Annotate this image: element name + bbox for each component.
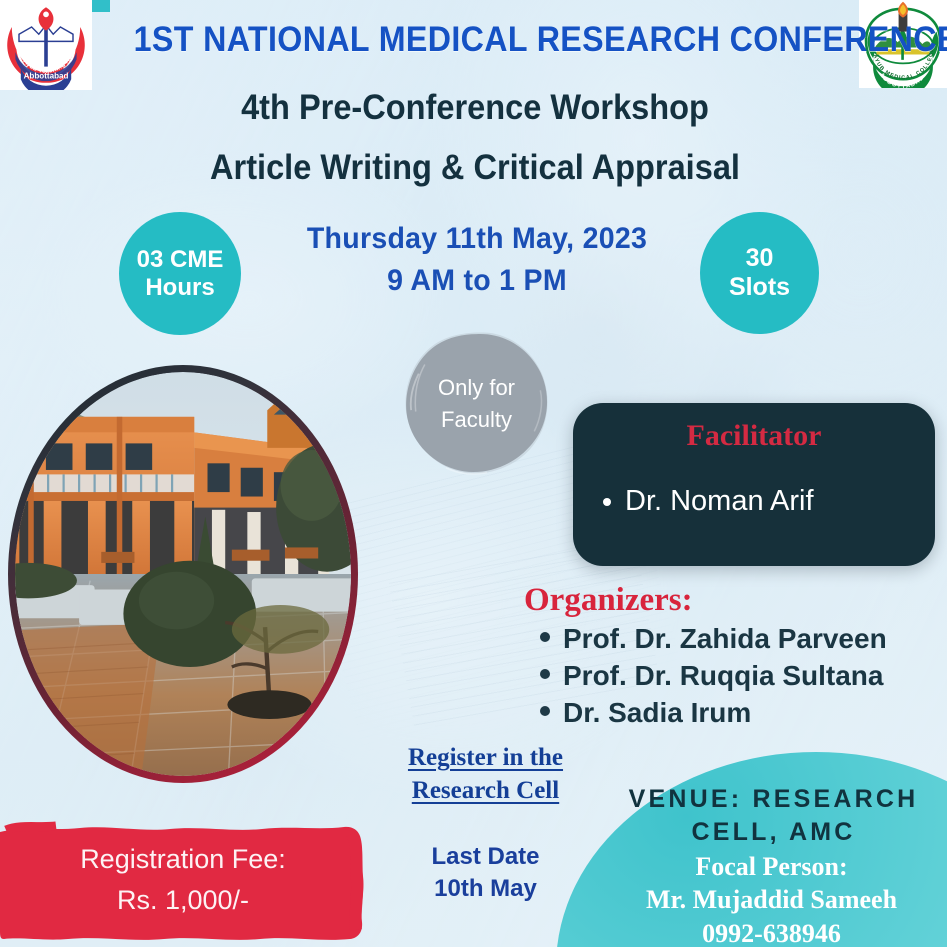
last-date-label: Last Date	[368, 841, 603, 873]
faculty-only-badge: Only for Faculty	[399, 328, 554, 480]
list-item: Dr. Sadia Irum	[540, 694, 940, 731]
venue-heading: VENUE: RESEARCH CELL, AMC	[600, 783, 947, 848]
fee-amount: Rs. 1,000/-	[117, 880, 249, 921]
faculty-only-line1: Only for	[438, 372, 515, 404]
facilitator-name: Dr. Noman Arif	[625, 485, 814, 518]
cme-hours-line1: 03 CME	[137, 246, 224, 274]
svg-text:Abbottabad: Abbottabad	[24, 71, 69, 80]
workshop-subtitle: 4th Pre-Conference Workshop	[126, 88, 824, 128]
facilitator-heading: Facilitator	[573, 419, 935, 453]
venue-line2: CELL, AMC	[600, 816, 947, 849]
register-instruction: Register in the Research Cell	[368, 742, 603, 807]
bullet-icon	[540, 706, 550, 716]
last-date-block: Last Date 10th May	[368, 841, 603, 904]
focal-person-block: Focal Person: Mr. Mujaddid Sameeh 0992-6…	[596, 850, 947, 947]
event-date: Thursday 11th May, 2023	[263, 222, 691, 256]
list-item: Prof. Dr. Ruqqia Sultana	[540, 657, 940, 694]
fee-label: Registration Fee:	[80, 839, 286, 880]
organizer-name: Prof. Dr. Ruqqia Sultana	[563, 657, 883, 694]
bullet-icon	[540, 669, 550, 679]
ayub-teaching-hospital-logo: Ayub Teaching Hospital Abbottabad	[0, 0, 92, 90]
workshop-topic: Article Writing & Critical Appraisal	[126, 148, 824, 188]
slots-count: 30	[746, 244, 774, 273]
slots-badge: 30 Slots	[700, 212, 819, 334]
college-building-photo	[8, 365, 358, 783]
page-title: 1ST NATIONAL MEDICAL RESEARCH CONFERENCE	[134, 20, 815, 60]
register-line1: Register in the	[368, 742, 603, 775]
organizers-heading: Organizers:	[524, 582, 693, 619]
schedule-block: Thursday 11th May, 2023 9 AM to 1 PM	[263, 222, 691, 298]
focal-person-phone: 0992-638946	[596, 917, 947, 947]
header-teal-accent	[92, 0, 110, 12]
focal-person-label: Focal Person:	[596, 850, 947, 883]
focal-person-name: Mr. Mujaddid Sameeh	[596, 883, 947, 916]
slots-label: Slots	[729, 273, 790, 302]
venue-line1: VENUE: RESEARCH	[600, 783, 947, 816]
bullet-icon	[603, 498, 611, 506]
organizer-name: Dr. Sadia Irum	[563, 694, 751, 731]
organizers-list: Prof. Dr. Zahida Parveen Prof. Dr. Ruqqi…	[540, 620, 940, 732]
building-courtyard-illustration	[15, 372, 351, 776]
register-line2: Research Cell	[368, 775, 603, 808]
facilitator-name-item: Dr. Noman Arif	[603, 485, 814, 518]
faculty-only-line2: Faculty	[441, 404, 512, 436]
list-item: Prof. Dr. Zahida Parveen	[540, 620, 940, 657]
event-time: 9 AM to 1 PM	[263, 264, 691, 298]
facilitator-card: Facilitator Dr. Noman Arif	[573, 403, 935, 566]
organizer-name: Prof. Dr. Zahida Parveen	[563, 620, 887, 657]
registration-fee-badge: Registration Fee: Rs. 1,000/-	[0, 818, 366, 947]
cme-hours-line2: Hours	[145, 274, 214, 302]
cme-hours-badge: 03 CME Hours	[119, 212, 241, 335]
conference-poster: Ayub Teaching Hospital Abbottabad ABBOTT…	[0, 0, 947, 947]
bullet-icon	[540, 632, 550, 642]
